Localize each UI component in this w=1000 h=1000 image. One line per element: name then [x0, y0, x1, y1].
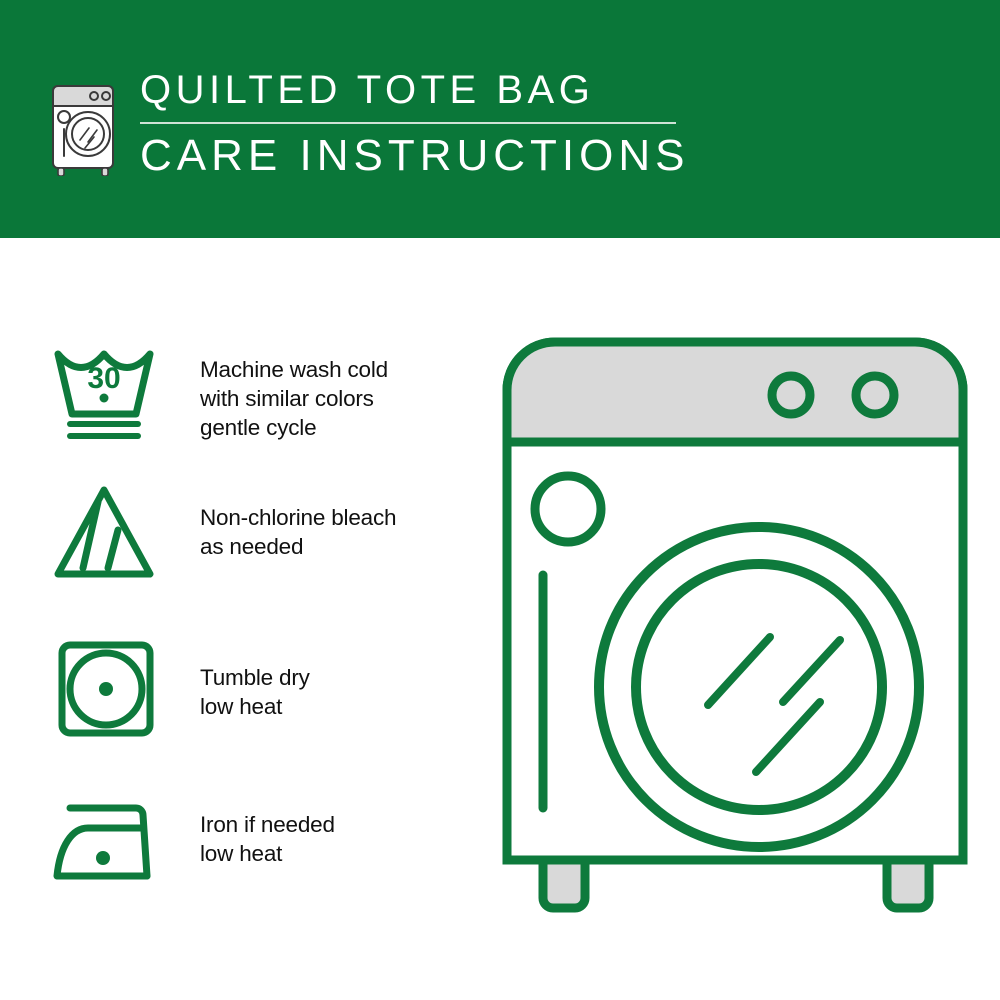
care-item-bleach: Non-chlorine bleach as needed	[0, 478, 480, 598]
care-label-line: Machine wash cold	[200, 355, 472, 384]
care-label-line: Tumble dry	[200, 663, 472, 692]
care-label-line: as needed	[200, 532, 472, 561]
care-item-iron: Iron if needed low heat	[0, 788, 480, 898]
foot-right	[887, 860, 929, 908]
care-instruction-list: 30 Machine wash cold with similar colors…	[0, 238, 480, 1000]
header-banner: QUILTED TOTE BAG CARE INSTRUCTIONS	[0, 0, 1000, 238]
care-item-label-machine-wash: Machine wash cold with similar colors ge…	[200, 355, 472, 442]
title-divider	[140, 122, 676, 124]
washing-machine-icon	[44, 72, 122, 176]
care-item-tumble-dry: Tumble dry low heat	[0, 633, 480, 758]
page-title: QUILTED TOTE BAG	[140, 66, 740, 114]
care-label-line: Iron if needed	[200, 810, 472, 839]
page-subtitle: CARE INSTRUCTIONS	[140, 130, 740, 182]
machine-wash-30-gentle-symbol: 30	[48, 338, 160, 442]
care-instructions-page: QUILTED TOTE BAG CARE INSTRUCTIONS 30	[0, 0, 1000, 1000]
care-label-line: with similar colors	[200, 384, 472, 413]
non-chlorine-bleach-symbol	[48, 482, 160, 582]
wash-temperature-value: 30	[87, 362, 120, 395]
care-item-machine-wash: 30 Machine wash cold with similar colors…	[0, 338, 480, 458]
care-label-line: gentle cycle	[200, 413, 472, 442]
front-load-washing-machine-illustration	[495, 330, 975, 930]
care-label-line: Non-chlorine bleach	[200, 503, 472, 532]
header-title-block: QUILTED TOTE BAG CARE INSTRUCTIONS	[140, 66, 740, 182]
care-item-label-bleach: Non-chlorine bleach as needed	[200, 503, 472, 561]
care-label-line: low heat	[200, 692, 472, 721]
tumble-dry-low-heat-symbol	[48, 635, 160, 743]
iron-low-heat-symbol	[48, 798, 160, 884]
care-item-label-tumble-dry: Tumble dry low heat	[200, 663, 472, 721]
foot-left	[543, 860, 585, 908]
care-label-line: low heat	[200, 839, 472, 868]
care-item-label-iron: Iron if needed low heat	[200, 810, 472, 868]
